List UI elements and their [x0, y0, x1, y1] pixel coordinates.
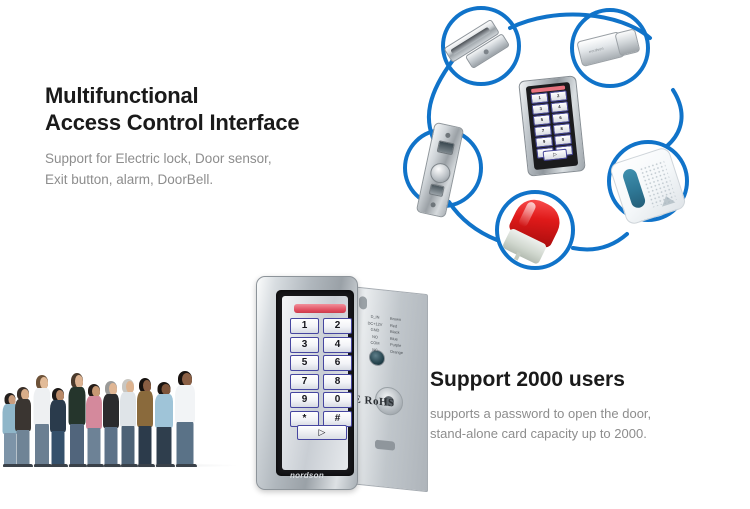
person-torso — [68, 387, 85, 425]
person-torso — [137, 391, 153, 427]
headline-subtitle-line-1: Support for Electric lock, Door sensor, — [45, 148, 385, 169]
queue-person — [86, 384, 102, 467]
person-torso — [175, 385, 195, 423]
device-wiring-legend: D_IN Brown DC+12V Red GND Black NO Blue … — [360, 313, 424, 359]
keypad-key-7[interactable]: 7 — [290, 374, 319, 390]
mini-keypad-bezel: 1 2 3 4 5 6 7 8 9 0 * # — [518, 75, 586, 177]
device-cable-slot — [375, 440, 395, 451]
sensor-brand-label: nordson — [589, 46, 605, 54]
person-torso — [33, 388, 50, 425]
exit-button-window — [437, 140, 455, 155]
poster-canvas: Multifunctional Access Control Interface… — [0, 0, 750, 509]
queue-person — [175, 371, 195, 467]
mini-key: 0 — [554, 134, 572, 145]
exit-button-screw-top — [444, 132, 450, 138]
headline-block: Multifunctional Access Control Interface… — [45, 82, 385, 190]
mini-keypad-card-swipe-icon: ▷ — [543, 149, 568, 161]
page-title-line-2: Access Control Interface — [45, 110, 299, 135]
access-control-keypad-device: D_IN Brown DC+12V Red GND Black NO Blue … — [248, 272, 428, 494]
node-center-keypad: 1 2 3 4 5 6 7 8 9 0 * # — [523, 78, 585, 180]
person-torso — [155, 394, 173, 428]
person-shoe — [104, 464, 121, 467]
person-torso — [103, 394, 119, 428]
exit-button-window-lower — [429, 183, 445, 197]
support-subtitle-line-1: supports a password to open the door, — [430, 404, 730, 424]
support-title: Support 2000 users — [430, 367, 730, 393]
queue-person — [155, 382, 173, 467]
keypad-key-0[interactable]: 0 — [323, 392, 352, 408]
page-title: Multifunctional Access Control Interface — [45, 82, 385, 136]
keypad-key-4[interactable]: 4 — [323, 337, 352, 353]
mini-key: 5 — [533, 114, 551, 125]
queue-person — [120, 379, 136, 467]
queue-person — [50, 388, 66, 467]
mini-key: 1 — [531, 92, 549, 103]
person-shoe — [87, 464, 104, 467]
node-door-sensor: nordson — [578, 28, 642, 68]
mini-access-keypad-icon: 1 2 3 4 5 6 7 8 9 0 * # — [518, 75, 586, 177]
queue-person — [15, 387, 31, 467]
node-doorbell — [617, 154, 681, 220]
exit-button-screw-bottom — [430, 202, 436, 208]
person-legs — [70, 424, 84, 465]
mini-key: 7 — [534, 125, 552, 136]
device-led-indicator-strip — [294, 304, 346, 313]
queue-person — [68, 373, 85, 467]
node-alarm-siren — [509, 200, 561, 266]
exit-button-knob — [428, 161, 452, 185]
person-legs — [88, 428, 101, 465]
person-shoe — [138, 464, 155, 467]
keypad-key-5[interactable]: 5 — [290, 355, 319, 371]
person-legs — [52, 431, 65, 465]
node-electromagnetic-lock — [449, 24, 513, 74]
device-front-bezel: 1 2 3 4 5 6 7 8 9 0 * # ▷ — [256, 276, 358, 490]
support-subtitle: supports a password to open the door, st… — [430, 404, 730, 444]
mini-key: 4 — [550, 101, 568, 112]
mini-key: 8 — [553, 123, 571, 134]
person-torso — [50, 400, 66, 432]
mini-key: 6 — [551, 112, 569, 123]
person-legs — [139, 426, 152, 465]
keypad-key-8[interactable]: 8 — [323, 374, 352, 390]
node-exit-button — [425, 124, 459, 220]
people-queue-illustration — [0, 352, 240, 467]
person-legs — [105, 427, 118, 465]
mini-key: 3 — [532, 103, 550, 114]
queue-person — [137, 378, 153, 467]
device-keypad-keys: 1 2 3 4 5 6 7 8 9 0 * # — [290, 318, 352, 427]
person-shoe — [156, 464, 175, 467]
mini-key: 2 — [549, 90, 567, 101]
person-legs — [177, 422, 194, 465]
support-subtitle-line-2: stand-alone card capacity up to 2000. — [430, 424, 730, 444]
mini-keypad-face: 1 2 3 4 5 6 7 8 9 0 * # — [526, 82, 579, 170]
doorbell-shell — [609, 146, 688, 226]
accessory-circle-diagram: nordson — [415, 0, 750, 270]
queue-person — [33, 375, 50, 467]
person-shoe — [69, 464, 87, 467]
keypad-key-2[interactable]: 2 — [323, 318, 352, 334]
person-legs — [4, 433, 16, 465]
sensor-magnet-cap — [614, 28, 640, 56]
person-legs — [17, 430, 30, 465]
headline-subtitle: Support for Electric lock, Door sensor, … — [45, 148, 385, 190]
siren-highlight — [518, 201, 537, 228]
person-legs — [122, 426, 135, 465]
headline-subtitle-line-2: Exit button, alarm, DoorBell. — [45, 169, 385, 190]
keypad-key-9[interactable]: 9 — [290, 392, 319, 408]
queue-person — [103, 381, 119, 467]
person-shoe — [16, 464, 33, 467]
keypad-key-6[interactable]: 6 — [323, 355, 352, 371]
keypad-key-3[interactable]: 3 — [290, 337, 319, 353]
person-shoe — [121, 464, 138, 467]
person-torso — [86, 396, 102, 429]
device-keypad-panel: 1 2 3 4 5 6 7 8 9 0 * # ▷ — [276, 290, 354, 476]
person-legs — [35, 424, 49, 465]
person-torso — [120, 392, 136, 427]
doorbell-icon — [609, 146, 688, 226]
mini-keypad-keys: 1 2 3 4 5 6 7 8 9 0 * # — [531, 90, 574, 158]
keypad-key-1[interactable]: 1 — [290, 318, 319, 334]
page-title-line-1: Multifunctional — [45, 83, 198, 108]
person-legs — [157, 427, 172, 465]
device-inner-plate: 1 2 3 4 5 6 7 8 9 0 * # ▷ — [282, 296, 348, 470]
person-shoe — [176, 464, 197, 467]
alarm-siren-icon — [498, 193, 567, 269]
device-brand-label: nordson — [257, 471, 357, 480]
card-reader-swipe-icon[interactable]: ▷ — [297, 425, 347, 440]
person-shoe — [51, 464, 68, 467]
device-top-slot — [359, 296, 367, 310]
support-block: Support 2000 users supports a password t… — [430, 367, 730, 444]
door-sensor-icon: nordson — [575, 21, 643, 69]
person-torso — [15, 399, 31, 431]
mini-key: 9 — [535, 136, 553, 147]
